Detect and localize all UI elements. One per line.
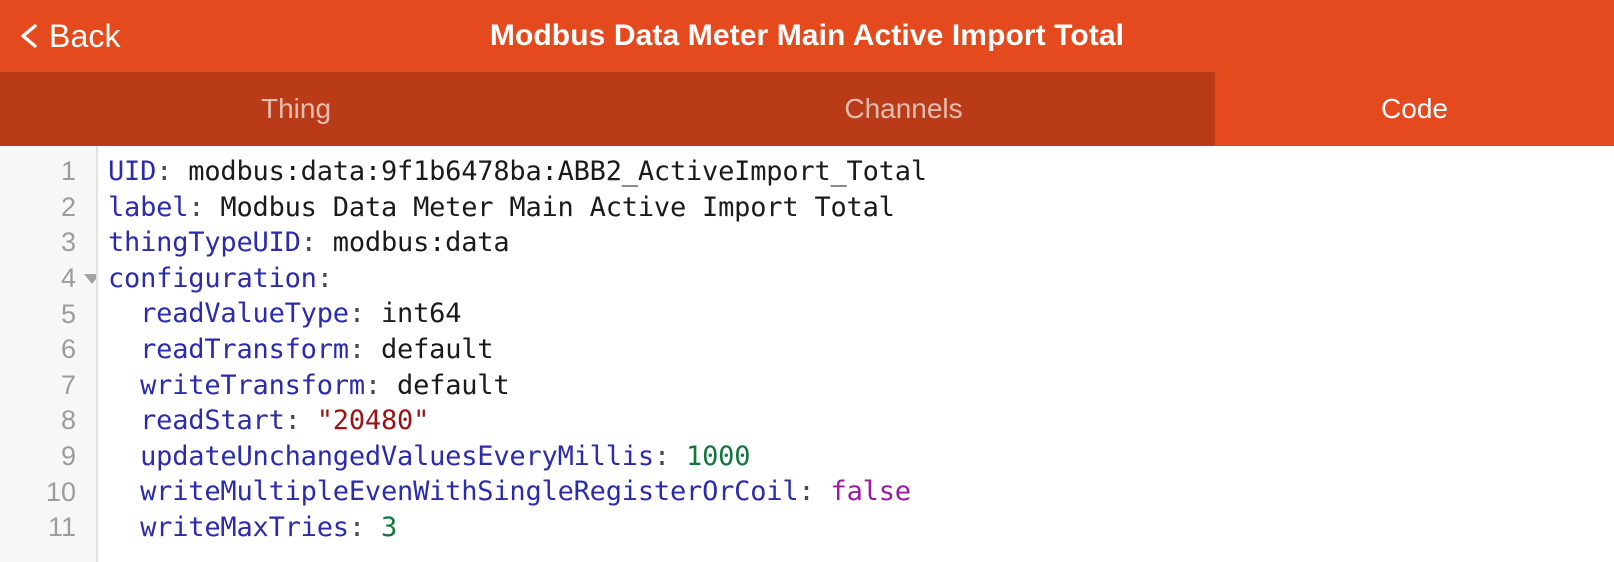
tab-thing[interactable]: Thing [0, 72, 592, 146]
code-key: label [108, 190, 188, 226]
gutter-row: 8 [0, 403, 96, 439]
code-key: thingTypeUID [108, 225, 301, 261]
gutter-row: 10 [0, 474, 96, 510]
code-colon: : [301, 225, 317, 261]
code-key: writeMaxTries [140, 510, 349, 546]
code-line[interactable]: updateUnchangedValuesEveryMillis: 1000 [108, 439, 1614, 475]
code-key: UID [108, 154, 156, 190]
code-value: 1000 [670, 439, 750, 475]
tab-channels[interactable]: Channels [592, 72, 1215, 146]
title-bar: Back Modbus Data Meter Main Active Impor… [0, 0, 1614, 72]
gutter-row: 11 [0, 510, 96, 546]
thing-code-editor-screen: Back Modbus Data Meter Main Active Impor… [0, 0, 1614, 562]
gutter-row: 2 [0, 190, 96, 226]
code-content[interactable]: UID: modbus:data:9f1b6478ba:ABB2_ActiveI… [98, 146, 1614, 562]
tab-code-label: Code [1381, 95, 1448, 123]
fold-expanded-icon[interactable] [82, 274, 98, 284]
line-number: 6 [61, 336, 76, 363]
code-value: false [814, 474, 910, 510]
code-key: readStart [140, 403, 285, 439]
code-colon: : [365, 368, 381, 404]
code-value: default [381, 368, 509, 404]
code-value: Modbus Data Meter Main Active Import Tot… [204, 190, 894, 226]
code-value: modbus:data:9f1b6478ba:ABB2_ActiveImport… [172, 154, 927, 190]
code-indent [108, 403, 140, 439]
tab-code[interactable]: Code [1215, 72, 1614, 146]
code-line[interactable]: configuration: [108, 261, 1614, 297]
line-number: 7 [61, 372, 76, 399]
gutter-row: 6 [0, 332, 96, 368]
tab-channels-label: Channels [844, 95, 962, 123]
code-colon: : [654, 439, 670, 475]
code-editor[interactable]: 1234567891011 UID: modbus:data:9f1b6478b… [0, 146, 1614, 562]
code-key: updateUnchangedValuesEveryMillis [140, 439, 654, 475]
code-colon: : [188, 190, 204, 226]
code-colon: : [317, 261, 333, 297]
code-indent [108, 474, 140, 510]
line-number: 10 [46, 479, 76, 506]
gutter-row: 1 [0, 154, 96, 190]
code-colon: : [349, 296, 365, 332]
code-colon: : [349, 332, 365, 368]
code-key: readTransform [140, 332, 349, 368]
code-line[interactable]: label: Modbus Data Meter Main Active Imp… [108, 190, 1614, 226]
gutter-row: 3 [0, 225, 96, 261]
code-indent [108, 368, 140, 404]
code-key: readValueType [140, 296, 349, 332]
code-line[interactable]: thingTypeUID: modbus:data [108, 225, 1614, 261]
code-line[interactable]: readStart: "20480" [108, 403, 1614, 439]
code-key: configuration [108, 261, 317, 297]
code-line[interactable]: writeMaxTries: 3 [108, 510, 1614, 546]
line-number: 2 [61, 194, 76, 221]
code-line[interactable]: UID: modbus:data:9f1b6478ba:ABB2_ActiveI… [108, 154, 1614, 190]
code-indent [108, 296, 140, 332]
line-number: 1 [61, 158, 76, 185]
page-title: Modbus Data Meter Main Active Import Tot… [0, 21, 1614, 51]
code-line[interactable]: writeTransform: default [108, 368, 1614, 404]
code-colon: : [156, 154, 172, 190]
line-number: 9 [61, 443, 76, 470]
line-number: 4 [61, 265, 76, 292]
line-number: 11 [48, 514, 76, 541]
code-line[interactable]: writeMultipleEvenWithSingleRegisterOrCoi… [108, 474, 1614, 510]
code-value: modbus:data [317, 225, 510, 261]
line-number-gutter: 1234567891011 [0, 146, 98, 562]
gutter-row: 7 [0, 368, 96, 404]
code-indent [108, 332, 140, 368]
gutter-row: 4 [0, 261, 96, 297]
code-value: 3 [365, 510, 397, 546]
tab-bar: Thing Channels Code [0, 72, 1614, 146]
code-value: "20480" [301, 403, 429, 439]
line-number: 3 [61, 229, 76, 256]
back-label: Back [49, 20, 121, 52]
gutter-row: 5 [0, 296, 96, 332]
line-number: 5 [61, 301, 76, 328]
code-colon: : [798, 474, 814, 510]
code-value: int64 [365, 296, 461, 332]
code-key: writeTransform [140, 368, 365, 404]
tab-thing-label: Thing [261, 95, 331, 123]
code-indent [108, 510, 140, 546]
back-button[interactable]: Back [18, 0, 121, 72]
line-number: 8 [61, 407, 76, 434]
code-line[interactable]: readValueType: int64 [108, 296, 1614, 332]
gutter-row: 9 [0, 439, 96, 475]
code-key: writeMultipleEvenWithSingleRegisterOrCoi… [140, 474, 798, 510]
code-value: default [365, 332, 493, 368]
code-line[interactable]: readTransform: default [108, 332, 1614, 368]
code-colon: : [349, 510, 365, 546]
code-indent [108, 439, 140, 475]
code-colon: : [285, 403, 301, 439]
chevron-left-icon [18, 23, 40, 49]
